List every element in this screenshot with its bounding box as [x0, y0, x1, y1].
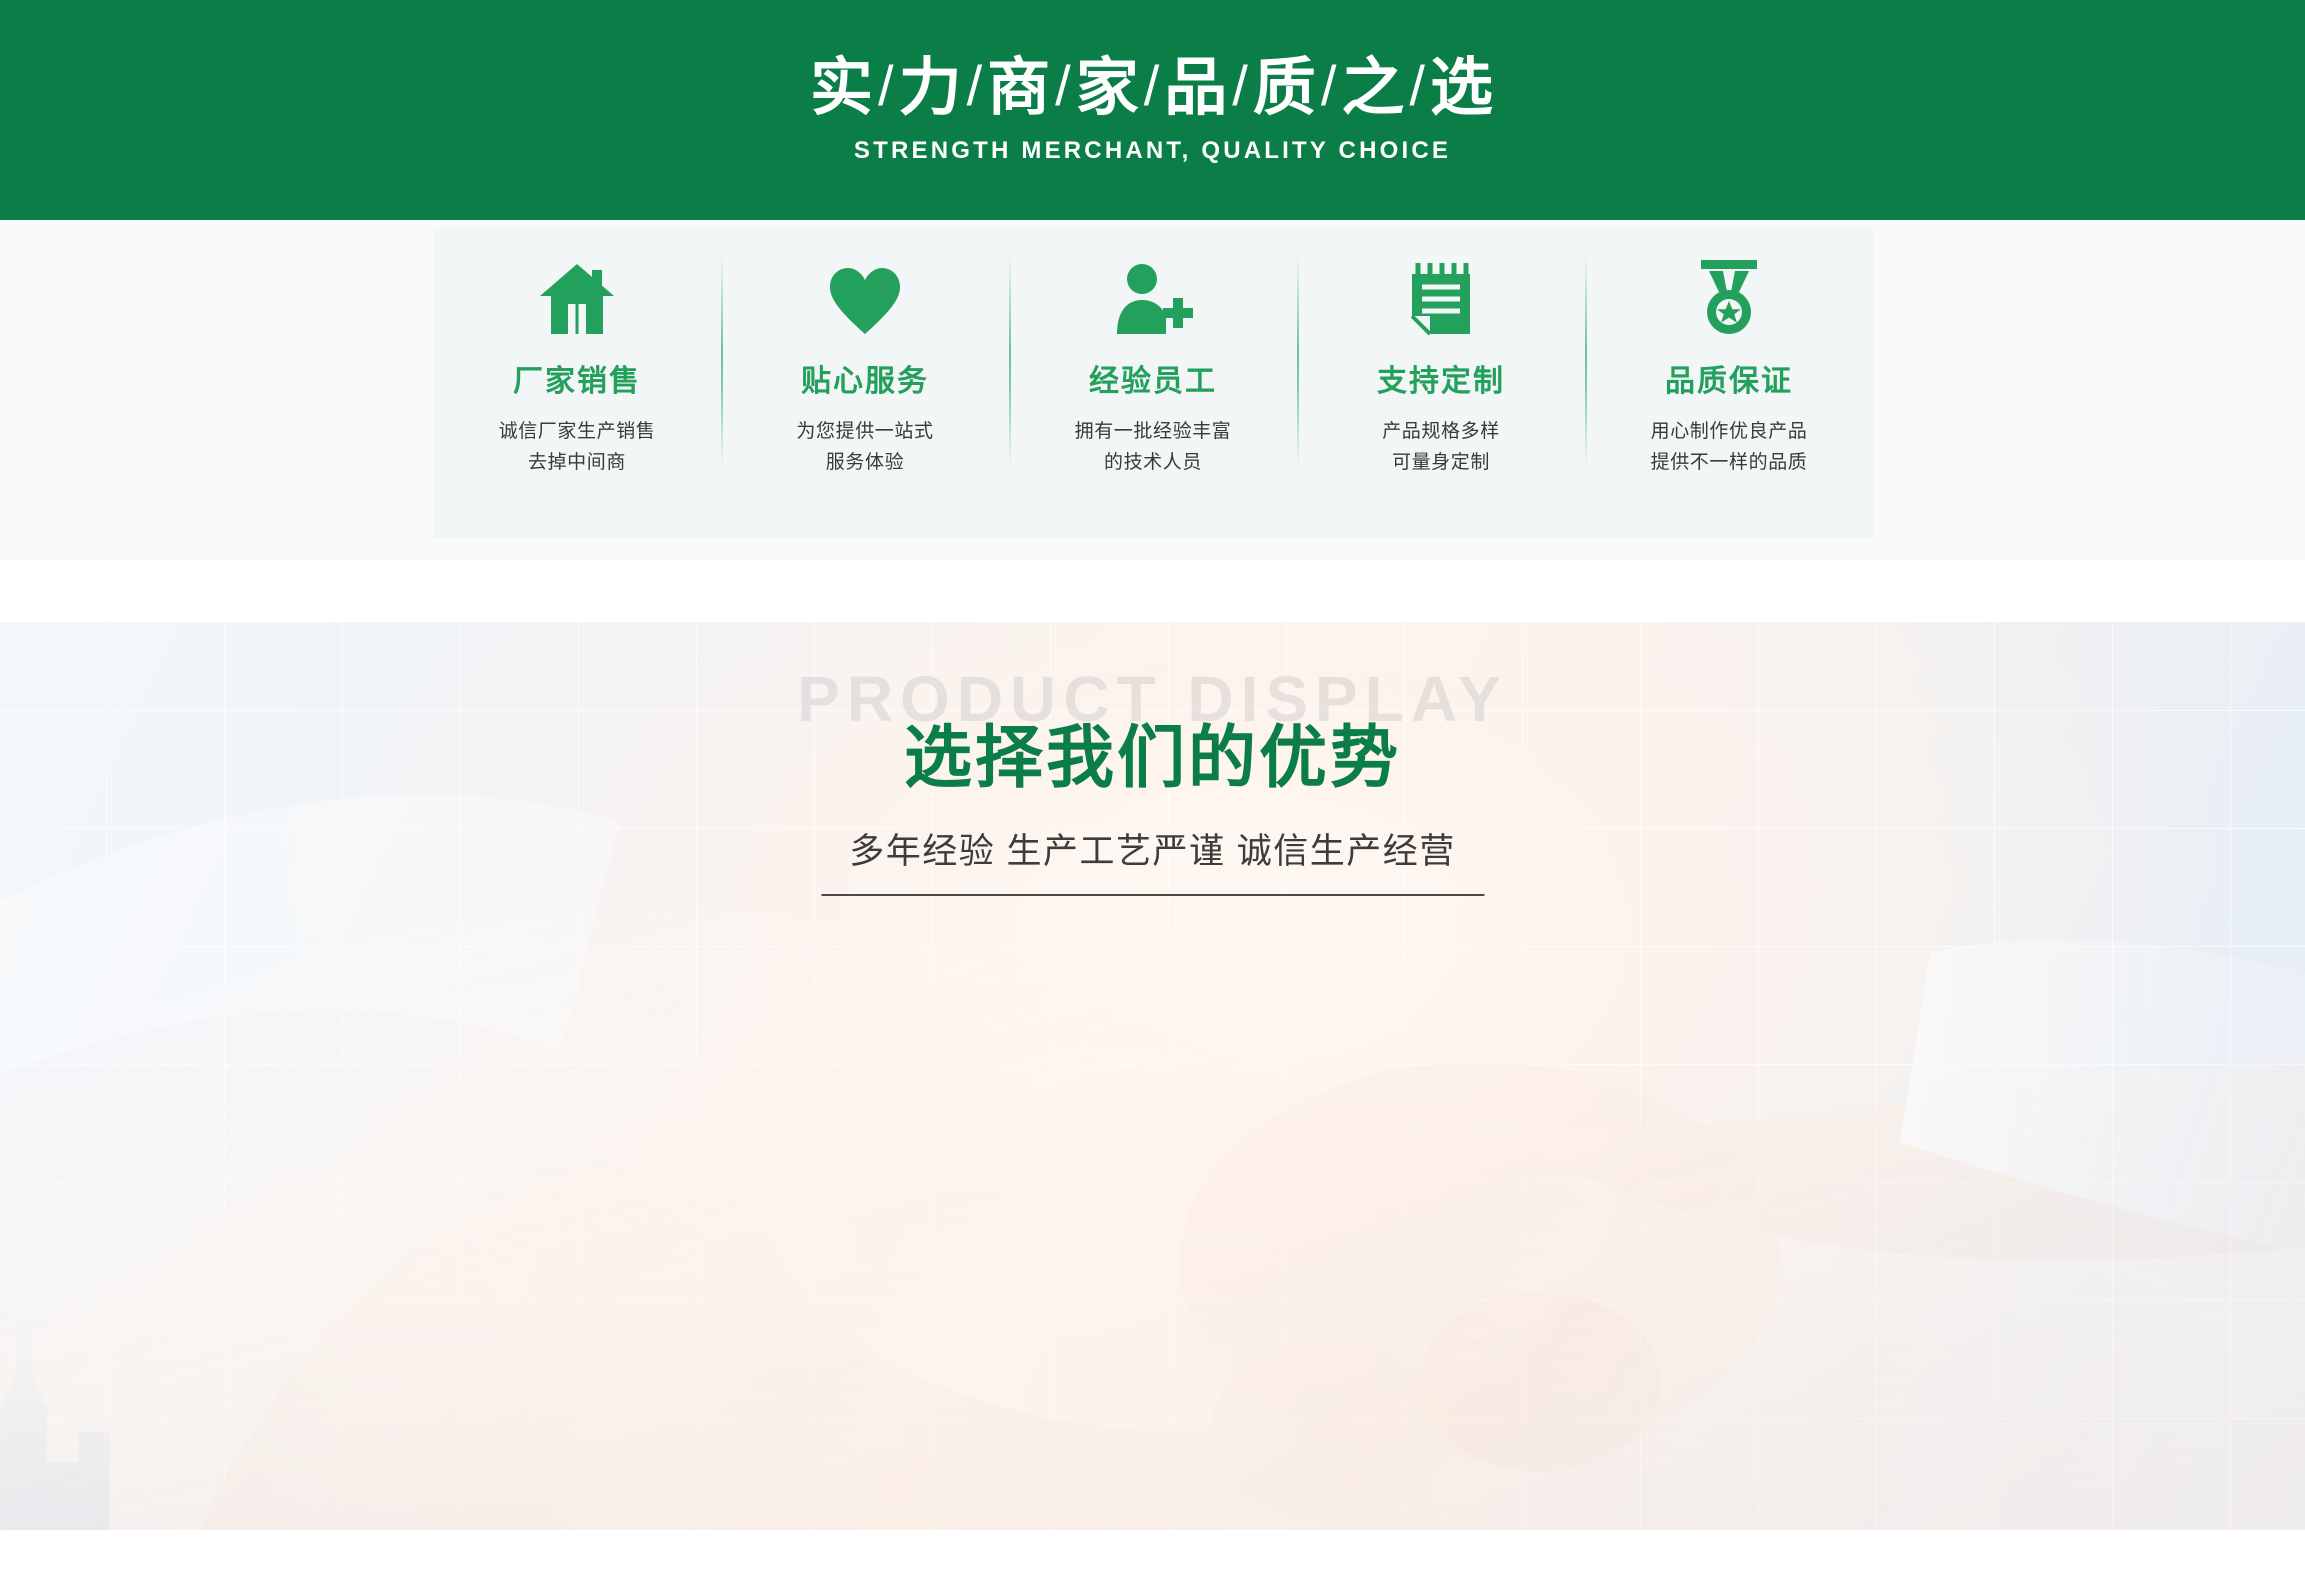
feature-item-customization[interactable]: 支持定制 产品规格多样可量身定制	[1297, 228, 1585, 479]
feature-desc: 拥有一批经验丰富的技术人员	[1075, 417, 1232, 479]
feature-strip-section: 厂家销售 诚信厂家生产销售去掉中间商 贴心服务 为您提供一站式服务体验	[0, 220, 2305, 560]
promo-page: 实/力/商/家/品/质/之/选 STRENGTH MERCHANT, QUALI…	[0, 0, 2305, 1577]
advantages-subtitle: 多年经验 生产工艺严谨 诚信生产经营	[0, 823, 2305, 874]
feature-item-experienced-staff[interactable]: 经验员工 拥有一批经验丰富的技术人员	[1009, 228, 1297, 479]
feature-title: 经验员工	[1089, 356, 1217, 400]
advantages-section: PRODUCT DISPLAY 选择我们的优势 多年经验 生产工艺严谨 诚信生产…	[0, 622, 2305, 1530]
title-underline	[821, 894, 1484, 896]
user-plus-icon	[1110, 256, 1196, 336]
notepad-icon	[1398, 256, 1484, 336]
hero-banner: 实/力/商/家/品/质/之/选 STRENGTH MERCHANT, QUALI…	[0, 0, 2305, 220]
feature-desc: 产品规格多样可量身定制	[1382, 417, 1500, 479]
banner-subtitle: STRENGTH MERCHANT, QUALITY CHOICE	[854, 137, 1451, 165]
feature-title: 厂家销售	[513, 356, 641, 400]
title-separator: /	[875, 54, 899, 117]
feature-desc: 为您提供一站式服务体验	[796, 417, 933, 479]
feature-panel: 厂家销售 诚信厂家生产销售去掉中间商 贴心服务 为您提供一站式服务体验	[433, 228, 1873, 538]
feature-row: 厂家销售 诚信厂家生产销售去掉中间商 贴心服务 为您提供一站式服务体验	[433, 228, 1873, 538]
feature-item-caring-service[interactable]: 贴心服务 为您提供一站式服务体验	[721, 228, 1009, 479]
feature-item-factory-sales[interactable]: 厂家销售 诚信厂家生产销售去掉中间商	[433, 228, 721, 479]
advantages-header: PRODUCT DISPLAY 选择我们的优势 多年经验 生产工艺严谨 诚信生产…	[0, 662, 2305, 874]
feature-title: 品质保证	[1665, 356, 1793, 400]
feature-title: 支持定制	[1377, 356, 1505, 400]
medal-icon	[1686, 256, 1772, 336]
feature-desc: 诚信厂家生产销售去掉中间商	[499, 417, 656, 479]
feature-desc: 用心制作优良产品提供不一样的品质	[1651, 417, 1808, 479]
house-icon	[534, 256, 620, 336]
advantages-title: 选择我们的优势	[0, 702, 2305, 801]
banner-title: 实/力/商/家/品/质/之/选	[810, 55, 1495, 121]
heart-icon	[822, 256, 908, 336]
feature-item-quality-guarantee[interactable]: 品质保证 用心制作优良产品提供不一样的品质	[1585, 228, 1873, 479]
feature-title: 贴心服务	[801, 356, 929, 400]
